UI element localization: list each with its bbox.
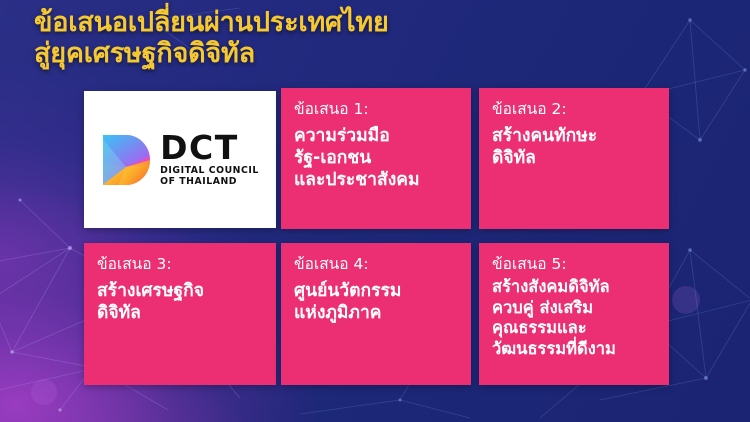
proposal-card-4[interactable]: ข้อเสนอ 4: ศูนย์นวัตกรรม แห่งภูมิภาค (281, 243, 471, 385)
proposal-card-1-line-1: ความร่วมมือ (294, 125, 458, 147)
proposal-card-1[interactable]: ข้อเสนอ 1: ความร่วมมือ รัฐ-เอกชน และประช… (281, 88, 471, 229)
proposal-card-1-line-3: และประชาสังคม (294, 169, 458, 191)
proposal-card-5[interactable]: ข้อเสนอ 5: สร้างสังคมดิจิทัล ควบคู่ ส่งเ… (479, 243, 669, 385)
proposal-card-1-line-2: รัฐ-เอกชน (294, 147, 458, 169)
proposal-card-4-line-2: แห่งภูมิภาค (294, 302, 458, 324)
proposal-card-5-line-4: วัฒนธรรมที่ดีงาม (492, 339, 656, 360)
page-title-line2: สู่ยุคเศรษฐกิจดิจิทัล (34, 38, 554, 69)
proposal-card-2-line-2: ดิจิทัล (492, 147, 656, 169)
proposal-card-3-header: ข้อเสนอ 3: (97, 255, 263, 274)
dct-acronym: DCT (160, 132, 259, 163)
dct-name-line1: DIGITAL COUNCIL (160, 165, 259, 177)
page-title-line1: ข้อเสนอเปลี่ยนผ่านประเทศไทย (34, 7, 389, 38)
proposal-card-4-body: ศูนย์นวัตกรรม แห่งภูมิภาค (294, 280, 458, 324)
proposal-card-5-line-2: ควบคู่ ส่งเสริม (492, 298, 656, 319)
proposal-card-3-body: สร้างเศรษฐกิจ ดิจิทัล (97, 280, 263, 324)
proposal-card-5-body: สร้างสังคมดิจิทัล ควบคู่ ส่งเสริม คุณธรร… (492, 277, 656, 359)
proposal-card-2-header: ข้อเสนอ 2: (492, 100, 656, 119)
proposal-card-5-line-3: คุณธรรมและ (492, 318, 656, 339)
dct-logo-card: DCT DIGITAL COUNCIL OF THAILAND (84, 91, 276, 228)
proposal-card-2[interactable]: ข้อเสนอ 2: สร้างคนทักษะ ดิจิทัล (479, 88, 669, 229)
proposal-card-4-line-1: ศูนย์นวัตกรรม (294, 280, 458, 302)
proposal-card-5-line-1: สร้างสังคมดิจิทัล (492, 277, 656, 298)
proposal-card-1-body: ความร่วมมือ รัฐ-เอกชน และประชาสังคม (294, 125, 458, 191)
proposal-card-3[interactable]: ข้อเสนอ 3: สร้างเศรษฐกิจ ดิจิทัล (84, 243, 276, 385)
dct-name-line2: OF THAILAND (160, 176, 259, 188)
proposal-card-3-line-1: สร้างเศรษฐกิจ (97, 280, 263, 302)
dct-gradient-d-icon (101, 134, 151, 186)
proposal-card-4-header: ข้อเสนอ 4: (294, 255, 458, 274)
proposal-card-2-line-1: สร้างคนทักษะ (492, 125, 656, 147)
proposal-card-1-header: ข้อเสนอ 1: (294, 100, 458, 119)
proposal-card-2-body: สร้างคนทักษะ ดิจิทัล (492, 125, 656, 169)
proposal-card-3-line-2: ดิจิทัล (97, 302, 263, 324)
dct-logo-wordmark: DCT DIGITAL COUNCIL OF THAILAND (160, 132, 259, 188)
slide-canvas: ข้อเสนอเปลี่ยนผ่านประเทศไทย สู่ยุคเศรษฐก… (0, 0, 750, 422)
page-title: ข้อเสนอเปลี่ยนผ่านประเทศไทย สู่ยุคเศรษฐก… (34, 7, 554, 69)
proposal-card-5-header: ข้อเสนอ 5: (492, 255, 656, 274)
